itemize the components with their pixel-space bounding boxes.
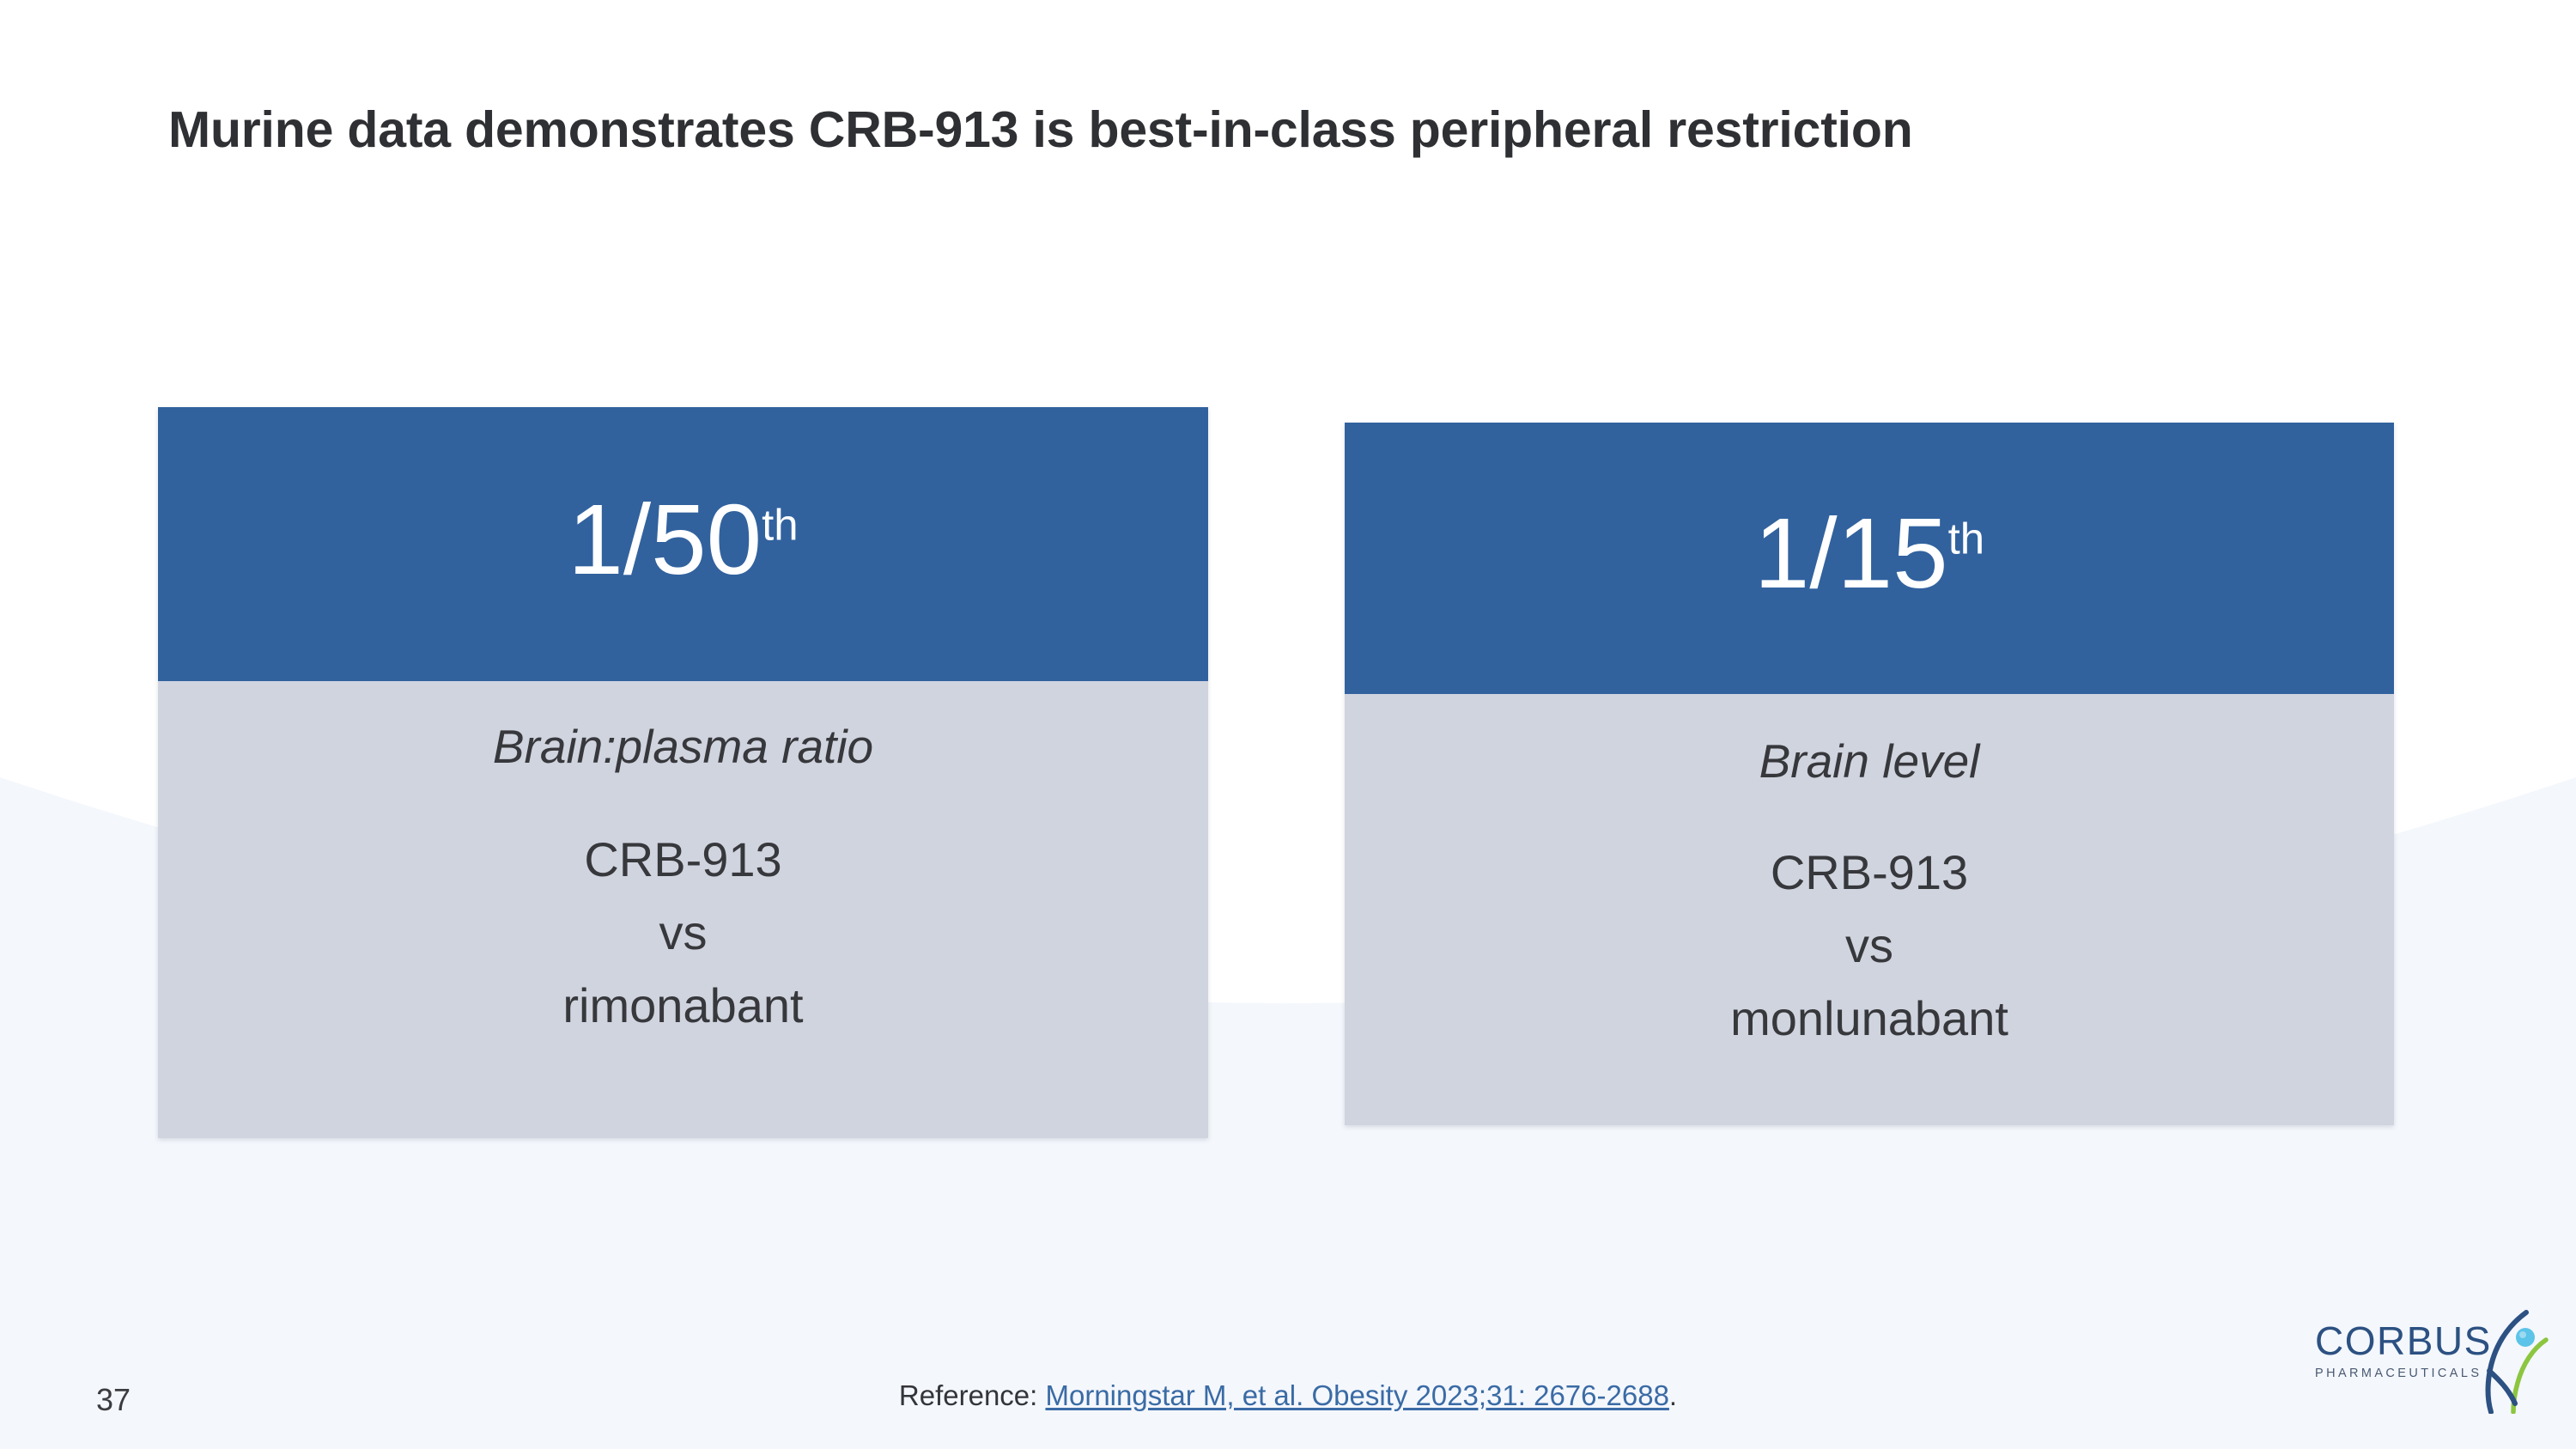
- page-title: Murine data demonstrates CRB-913 is best…: [168, 101, 2401, 160]
- ratio-number-right: 1/15: [1754, 497, 1948, 609]
- stat-card-header-right: 1/15th: [1345, 423, 2394, 694]
- comparison-line: CRB-913: [1345, 836, 2394, 909]
- stat-card-subtitle-left: Brain:plasma ratio: [158, 681, 1208, 773]
- ratio-ordinal-left: th: [762, 500, 799, 549]
- stat-card-subtitle-right: Brain level: [1345, 694, 2394, 788]
- comparison-line: vs: [158, 896, 1208, 969]
- comparison-line: monlunabant: [1345, 982, 2394, 1055]
- stat-card-brain-level: 1/15th Brain level CRB-913 vs monlunaban…: [1345, 423, 2394, 1125]
- reference-footnote: Reference: Morningstar M, et al. Obesity…: [0, 1379, 2576, 1413]
- corbus-logo-text: CORBUS PHARMACEUTICALS: [2315, 1321, 2468, 1380]
- reference-prefix-label: Reference:: [899, 1379, 1046, 1411]
- comparison-line: vs: [1345, 909, 2394, 982]
- slide: Murine data demonstrates CRB-913 is best…: [0, 0, 2576, 1449]
- stat-card-header-left: 1/50th: [158, 407, 1208, 681]
- stat-card-body-left: Brain:plasma ratio CRB-913 vs rimonabant: [158, 681, 1208, 1138]
- corbus-tagline: PHARMACEUTICALS: [2315, 1367, 2468, 1380]
- stat-card-comparison-right: CRB-913 vs monlunabant: [1345, 788, 2394, 1055]
- corbus-figure-mark-icon: [2463, 1309, 2552, 1414]
- comparison-line: CRB-913: [158, 823, 1208, 896]
- comparison-line: rimonabant: [158, 969, 1208, 1042]
- stat-card-body-right: Brain level CRB-913 vs monlunabant: [1345, 694, 2394, 1125]
- ratio-value-left: 1/50th: [568, 490, 798, 589]
- reference-link[interactable]: Morningstar M, et al. Obesity 2023;31: 2…: [1046, 1379, 1669, 1411]
- stat-card-comparison-left: CRB-913 vs rimonabant: [158, 773, 1208, 1042]
- corbus-logo: CORBUS PHARMACEUTICALS: [2312, 1309, 2552, 1419]
- corbus-wordmark: CORBUS: [2315, 1321, 2468, 1361]
- ratio-ordinal-right: th: [1948, 514, 1985, 563]
- stat-card-brain-plasma-ratio: 1/50th Brain:plasma ratio CRB-913 vs rim…: [158, 407, 1208, 1138]
- ratio-number-left: 1/50: [568, 484, 762, 595]
- reference-suffix-label: .: [1669, 1379, 1677, 1411]
- ratio-value-right: 1/15th: [1754, 503, 1984, 603]
